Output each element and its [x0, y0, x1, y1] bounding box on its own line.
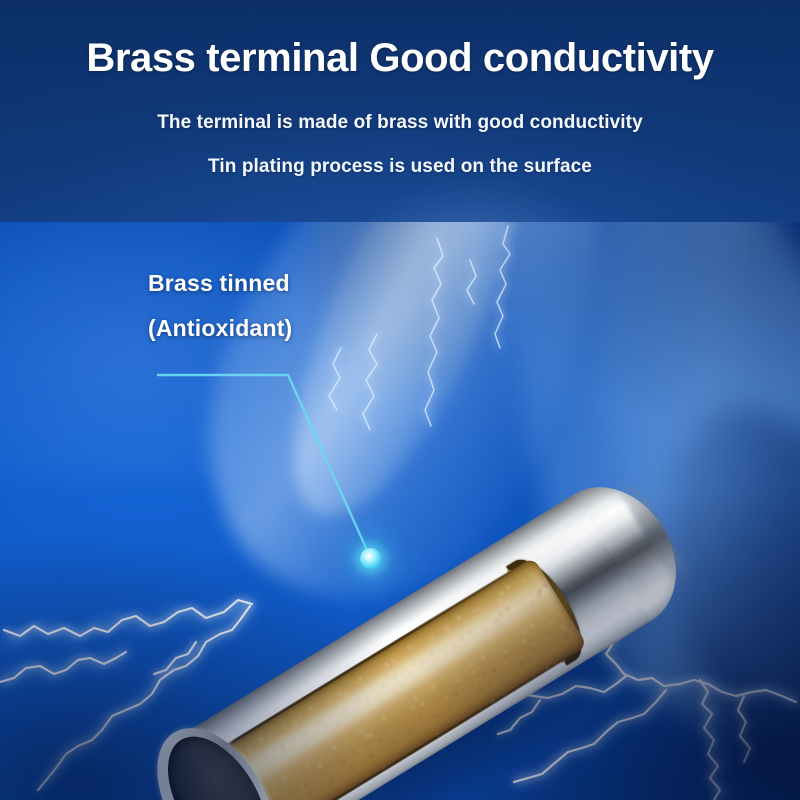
callout-annotation: Brass tinned (Antioxidant): [0, 222, 800, 800]
callout-glow-dot: [360, 548, 381, 569]
subtitle-line-2: Tin plating process is used on the surfa…: [0, 155, 800, 179]
callout-leader-line: [0, 222, 800, 800]
callout-label-line-1: Brass tinned: [148, 270, 290, 297]
header-glow-decoration: [330, 176, 630, 222]
banner-header: Brass terminal Good conductivity The ter…: [0, 0, 800, 222]
product-banner: Brass terminal Good conductivity The ter…: [0, 0, 800, 800]
callout-label-line-2: (Antioxidant): [148, 315, 292, 342]
page-title: Brass terminal Good conductivity: [0, 34, 800, 82]
subtitle-line-1: The terminal is made of brass with good …: [0, 111, 800, 135]
